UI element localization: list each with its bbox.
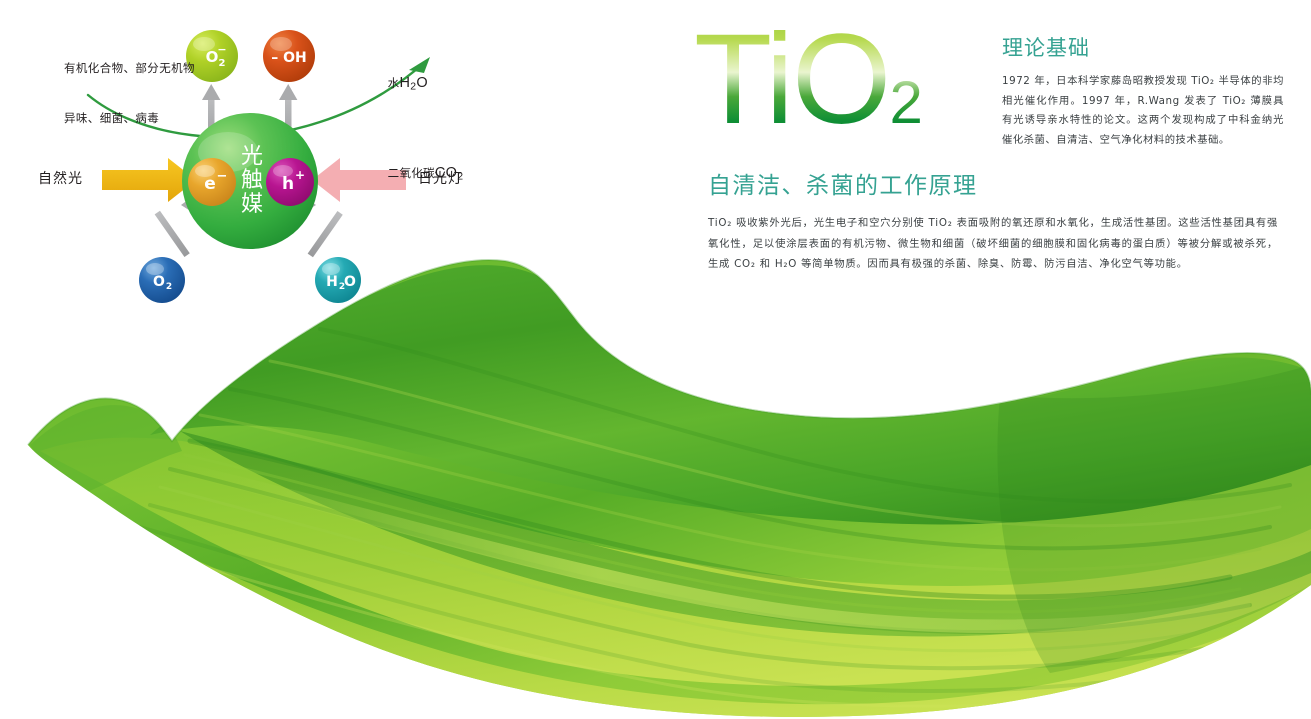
products-water-formula: H2O [399, 75, 427, 91]
natural-light-arrow [102, 158, 196, 202]
pollutants-label: 有机化合物、部分无机物 异味、细菌、病毒 [64, 27, 195, 159]
pollutants-label-line2: 异味、细菌、病毒 [64, 110, 195, 127]
poster-root: 光 触 媒 O 2 − – OH e [0, 0, 1311, 719]
photocatalysis-diagram: 光 触 媒 O 2 − – OH e [0, 0, 500, 330]
products-water-name: 水 [388, 76, 400, 90]
principle-body: TiO₂ 吸收紫外光后，光生电子和空穴分别使 TiO₂ 表面吸附的氧还原和水氧化… [708, 213, 1278, 275]
hole-sphere: h + [266, 158, 314, 206]
photocatalyst-label: 光 触 媒 [241, 144, 263, 217]
tio2-logo: TiO2 [694, 16, 923, 144]
lamp-light-label: 日光灯 [418, 168, 463, 188]
svg-text:2: 2 [219, 58, 226, 69]
theory-body: 1972 年，日本科学家藤岛昭教授发现 TiO₂ 半导体的非均相光催化作用。19… [1002, 72, 1284, 150]
section-principle: 自清洁、杀菌的工作原理 TiO₂ 吸收紫外光后，光生电子和空穴分别使 TiO₂ … [708, 166, 1278, 285]
svg-text:−: − [217, 43, 226, 56]
svg-text:H: H [326, 274, 338, 290]
photocatalyst-char-2: 媒 [241, 192, 263, 217]
svg-text:e: e [204, 174, 216, 194]
svg-text:O: O [153, 274, 165, 290]
theory-heading: 理论基础 [1002, 32, 1284, 62]
oxygen-molecule-sphere: O 2 [139, 257, 185, 303]
section-theory: 理论基础 1972 年，日本科学家藤岛昭教授发现 TiO₂ 半导体的非均相光催化… [1002, 32, 1284, 160]
svg-text:−: − [217, 169, 228, 184]
products-label: 水H2O 二氧化碳CO2 [356, 22, 463, 239]
tio2-logo-subscript: 2 [889, 69, 922, 136]
electron-sphere: e − [188, 158, 236, 206]
svg-text:– OH: – OH [271, 50, 307, 66]
photocatalyst-char-0: 光 [241, 144, 263, 169]
water-molecule-sphere: H 2 O [315, 257, 361, 303]
pollutants-label-line1: 有机化合物、部分无机物 [64, 60, 195, 77]
svg-text:h: h [282, 174, 294, 194]
tio2-logo-main: TiO [694, 8, 889, 151]
svg-text:2: 2 [166, 282, 172, 292]
products-label-line1: 水H2O [356, 57, 463, 113]
photocatalyst-char-1: 触 [241, 168, 263, 193]
hydroxyl-sphere: – OH [263, 30, 315, 82]
natural-light-label: 自然光 [38, 168, 83, 188]
principle-heading: 自清洁、杀菌的工作原理 [708, 166, 1278, 200]
right-panel: TiO2 理论基础 1972 年，日本科学家藤岛昭教授发现 TiO₂ 半导体的非… [690, 0, 1300, 330]
svg-text:O: O [344, 274, 356, 290]
svg-text:+: + [295, 168, 305, 182]
